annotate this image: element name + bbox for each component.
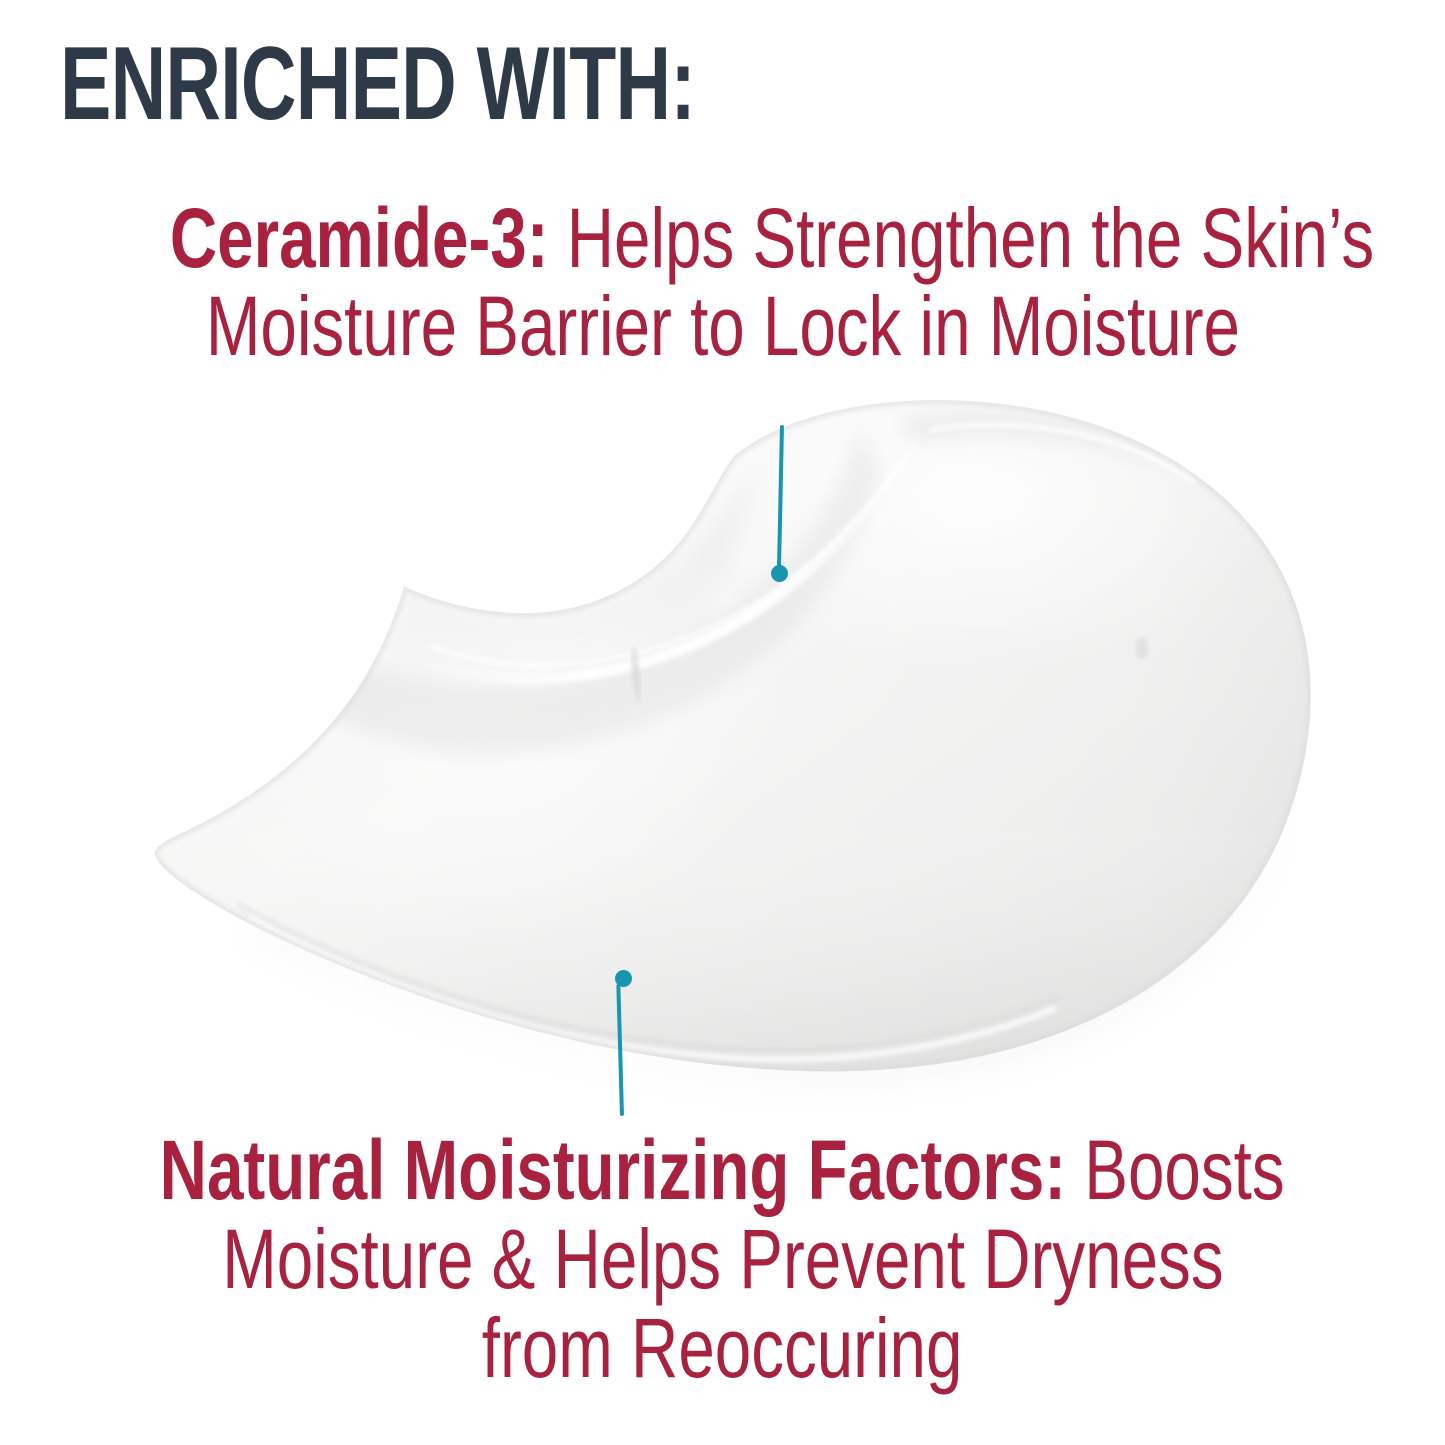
ingredient-line: from Reoccuring [0,1304,1445,1393]
callout-dot [771,565,788,582]
ingredient-line-rest: Helps Strengthen the Skin’s [549,191,1375,285]
product-infographic: ENRICHED WITH: [0,0,1445,1445]
ingredient-line: Moisture & Helps Prevent Dryness [0,1215,1445,1304]
ingredient-line: Natural Moisturizing Factors: Boosts [0,1126,1445,1215]
ingredient-lead-label: Natural Moisturizing Factors: [160,1123,1066,1217]
page-title: ENRICHED WITH: [60,30,1044,138]
ingredient-line: Ceramide-3: Helps Strengthen the Skin’s [0,194,1445,282]
ingredient-lead-label: Ceramide-3: [170,191,549,285]
ingredient-line: Moisture Barrier to Lock in Moisture [0,282,1445,370]
ingredient-natural-moisturizing-factors-text: Natural Moisturizing Factors: Boosts Moi… [0,1126,1445,1393]
callout-line [777,425,784,575]
ingredient-line-rest: Moisture Barrier to Lock in Moisture [205,282,1239,370]
ingredient-ceramide-3-text: Ceramide-3: Helps Strengthen the Skin’s … [0,194,1445,370]
callout-dot [615,970,632,987]
callout-line [616,984,624,1116]
ingredient-line-rest: Boosts [1066,1123,1285,1217]
ingredient-line-rest: from Reoccuring [482,1304,963,1393]
ingredient-line-rest: Moisture & Helps Prevent Dryness [222,1215,1223,1304]
